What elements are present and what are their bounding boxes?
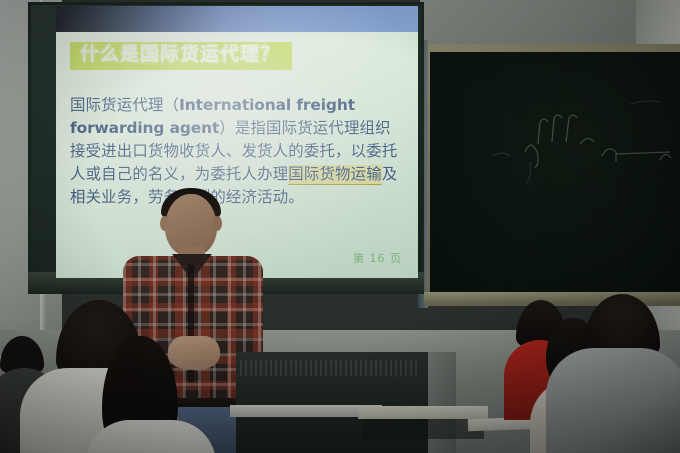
slide-top-band-shadow xyxy=(56,6,223,32)
slide-page-number: 第 16 页 xyxy=(353,250,402,266)
slide-body-line1-en: International freight xyxy=(179,96,355,114)
lecturer-clasped-hands xyxy=(168,336,220,370)
slide-body-highlighted-phrase: 国际货物运输 xyxy=(288,165,382,185)
lecturer-ear-right xyxy=(213,216,222,231)
slide-title: 什么是国际货运代理？ xyxy=(80,45,280,65)
slide-body-line3: 受进出口货物收货人、发货人的委托，以委托 xyxy=(86,142,398,160)
chalk-writing-icon xyxy=(430,52,680,292)
slide-title-highlight-bar: 什么是国际货运代理？ xyxy=(70,42,292,70)
student-desk-center xyxy=(358,406,488,419)
lecturer-ear-left xyxy=(160,216,169,231)
student-desk-center-shadow xyxy=(362,419,484,439)
student-right-gray-shoulders xyxy=(546,348,680,453)
slide-body-line2-en: forwarding agent xyxy=(70,119,219,137)
slide-body-line4-a: 人或自己的名义，为委托人办理 xyxy=(70,165,288,183)
classroom-photo-scene: 什么是国际货运代理？ 国际货运代理（International freight … xyxy=(0,0,680,453)
chalkboard xyxy=(430,52,680,292)
slide-body-line1-cn: 国际货运代理（ xyxy=(70,96,179,114)
podium-vent-grille xyxy=(240,360,420,376)
